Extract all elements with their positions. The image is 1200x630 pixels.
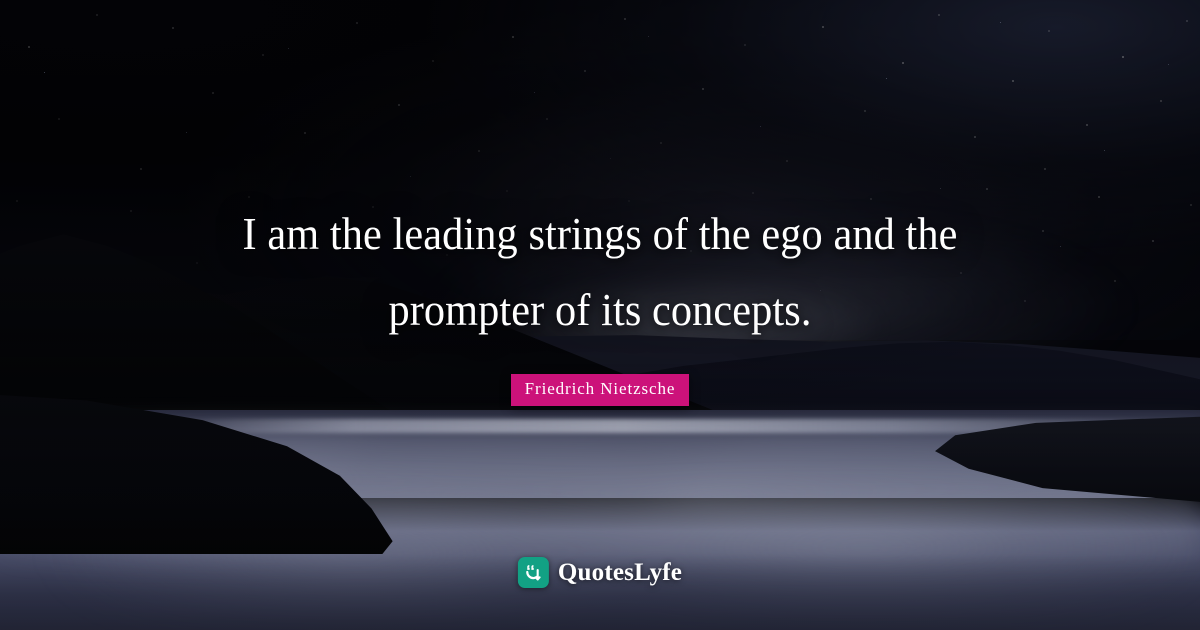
card-content: I am the leading strings of the ego and …	[0, 0, 1200, 630]
quote-smiley-icon	[518, 557, 549, 588]
quote-card: I am the leading strings of the ego and …	[0, 0, 1200, 630]
author-attribution: Friedrich Nietzsche	[170, 374, 1030, 406]
author-name-badge[interactable]: Friedrich Nietzsche	[511, 374, 690, 406]
quote-text: I am the leading strings of the ego and …	[204, 196, 995, 348]
quote-block: I am the leading strings of the ego and …	[170, 0, 1030, 406]
quoteslyfe-logo[interactable]: QuotesLyfe	[518, 557, 682, 588]
quoteslyfe-wordmark: QuotesLyfe	[558, 559, 682, 587]
